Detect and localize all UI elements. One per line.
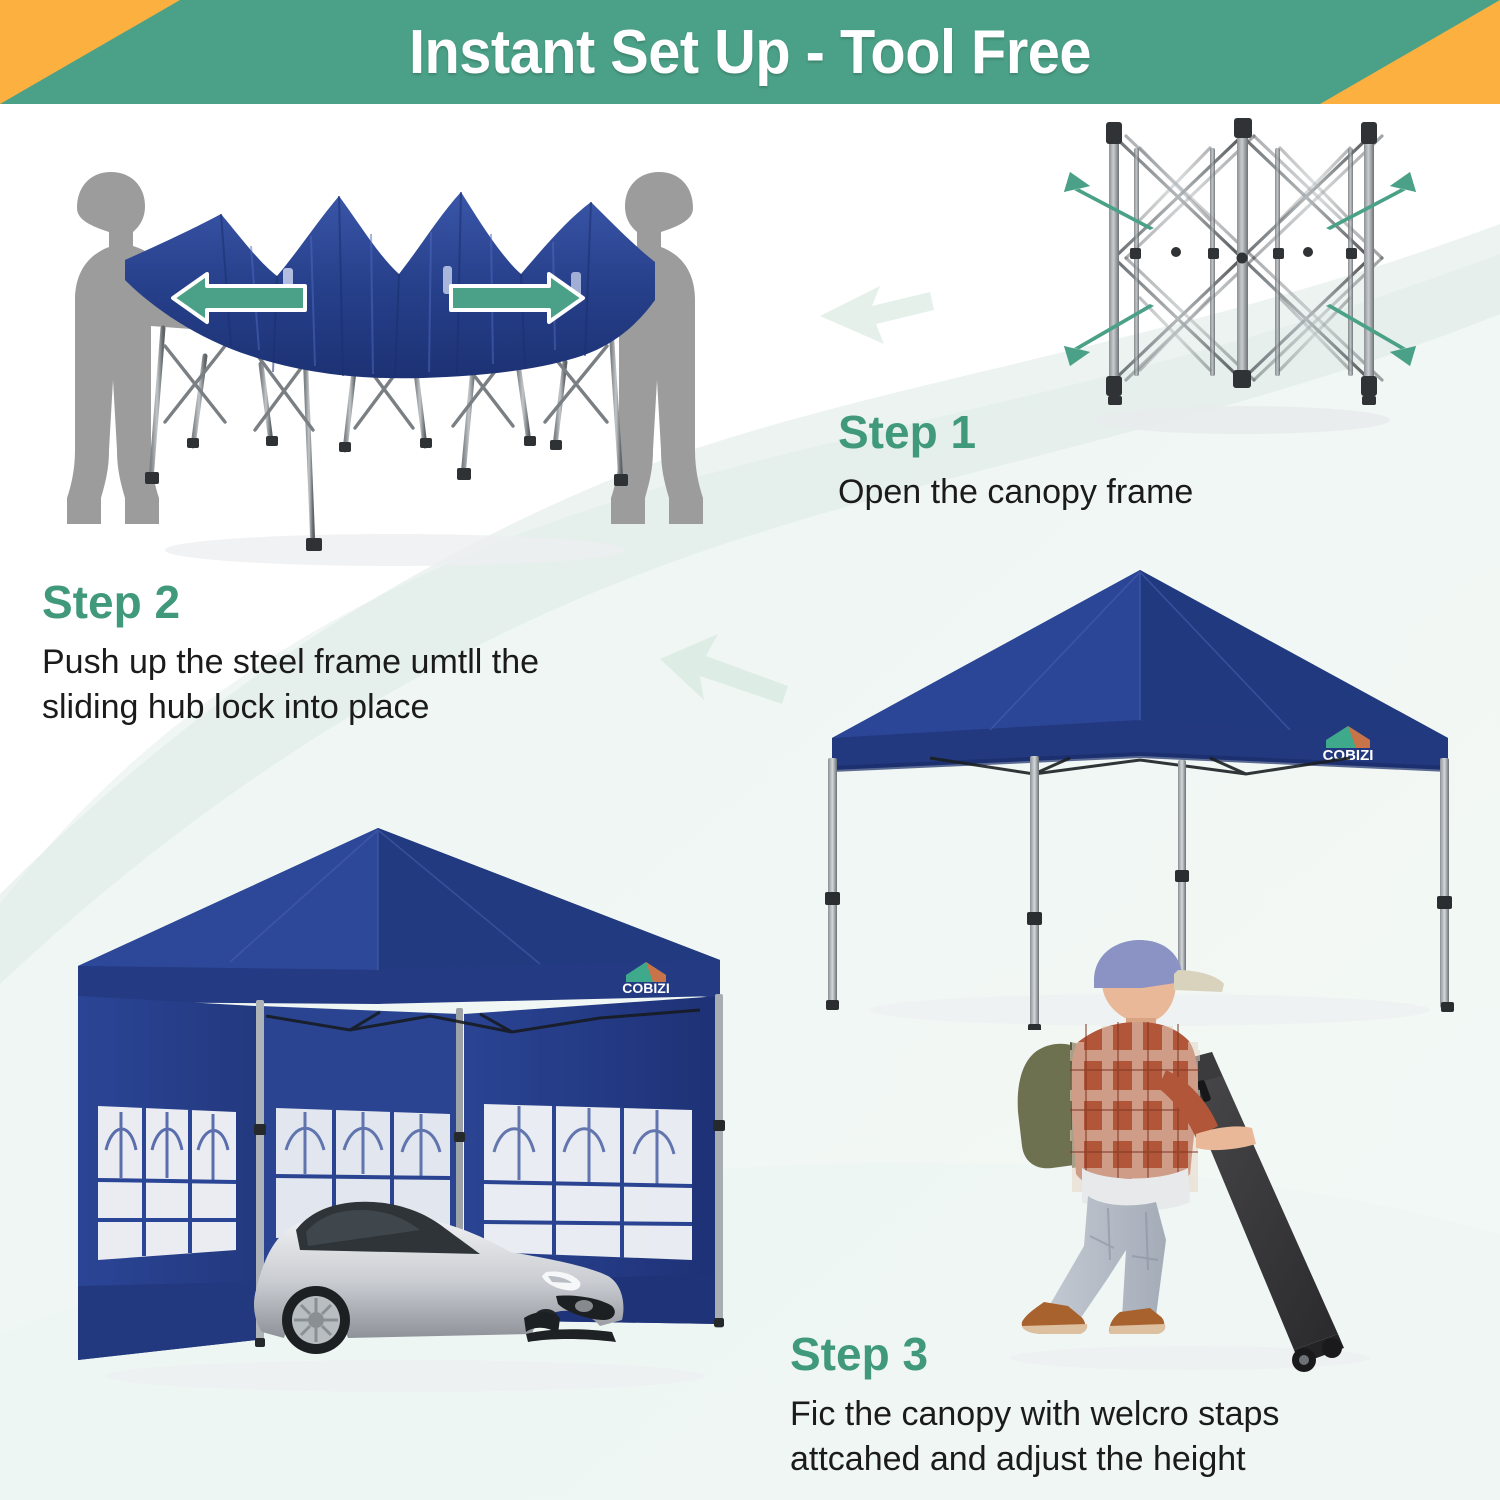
step-3-text-block: Step 3 Fic the canopy with welcro staps … [790,1330,1390,1482]
step-1-description: Open the canopy frame [838,470,1308,515]
step-2-heading: Step 2 [42,578,652,626]
step-3-heading: Step 3 [790,1330,1390,1378]
step-3-description-line-1: Fic the canopy with welcro staps [790,1395,1279,1433]
illustration-step-1-frame [1030,108,1450,448]
illustration-step-2-pull-apart [55,150,715,580]
step-2-text-block: Step 2 Push up the steel frame umtll the… [42,578,652,730]
illustration-canopy-with-sidewalls-and-car: COBIZI [60,820,750,1400]
step-3-description: Fic the canopy with welcro staps attcahe… [790,1392,1390,1482]
flow-arrow-step1-to-step2 [820,286,934,344]
step-3-description-line-2: attcahed and adjust the height [790,1440,1246,1478]
step-2-description: Push up the steel frame umtll the slidin… [42,640,652,730]
svg-text:COBIZI: COBIZI [622,980,669,996]
header-banner: Instant Set Up - Tool Free [0,0,1500,104]
flow-arrow-step2-to-step3 [660,634,788,704]
infographic-root: Instant Set Up - Tool Free [0,0,1500,1500]
step-1-heading: Step 1 [838,408,1308,456]
page-title: Instant Set Up - Tool Free [53,0,1448,104]
illustration-man-with-carry-bag [960,930,1430,1380]
step-1-text-block: Step 1 Open the canopy frame [838,408,1308,515]
step-2-description-line-1: Push up the steel frame umtll the [42,643,539,681]
sidewall-left [78,996,256,1360]
step-2-description-line-2: sliding hub lock into place [42,688,429,726]
